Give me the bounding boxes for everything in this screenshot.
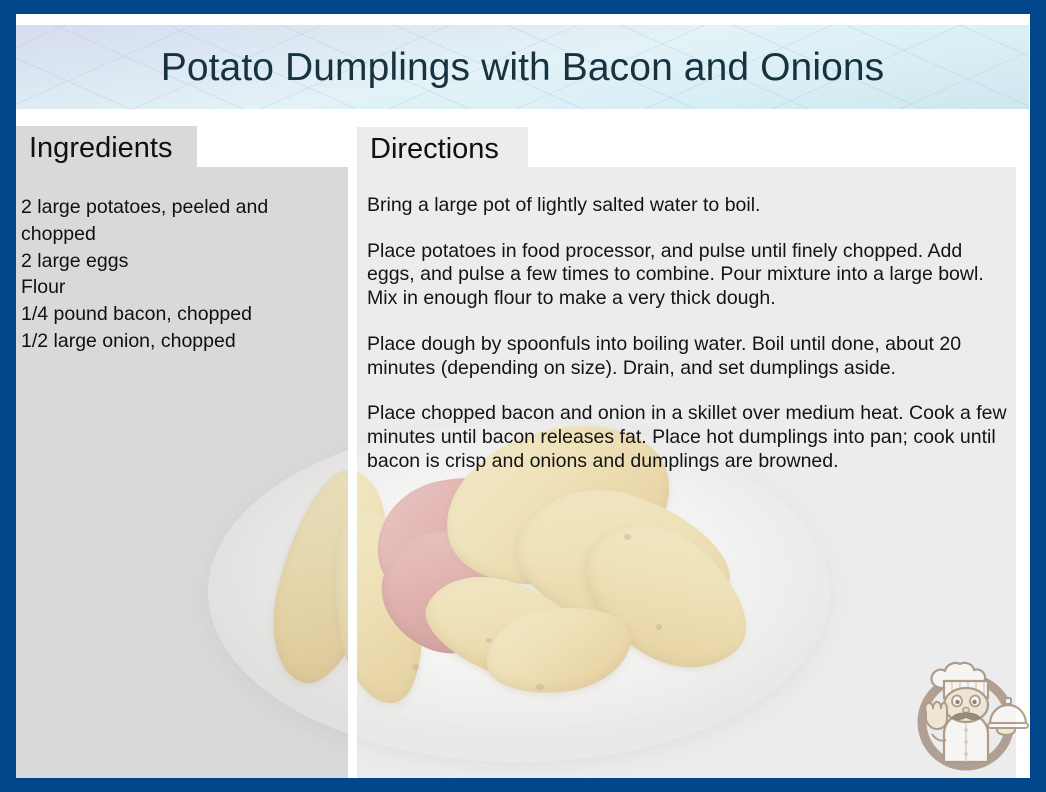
direction-step: Bring a large pot of lightly salted wate… — [367, 194, 1007, 218]
food-speck — [412, 664, 419, 670]
chef-mascot-logo — [902, 652, 1030, 778]
food-speck — [486, 638, 492, 643]
direction-step: Place chopped bacon and onion in a skill… — [367, 402, 1007, 473]
page-title: Potato Dumplings with Bacon and Onions — [161, 48, 885, 87]
ingredients-list: 2 large potatoes, peeled and chopped 2 l… — [21, 194, 331, 355]
food-speck — [536, 684, 544, 690]
column-divider — [348, 167, 357, 778]
recipe-card: Potato Dumplings with Bacon and Onions I… — [0, 0, 1046, 792]
ingredient-item: 1/4 pound bacon, chopped — [21, 301, 331, 328]
direction-step: Place potatoes in food processor, and pu… — [367, 240, 1007, 311]
ingredient-item: 2 large eggs — [21, 248, 331, 275]
directions-heading: Directions — [370, 135, 499, 164]
food-speck — [624, 534, 631, 540]
title-banner: Potato Dumplings with Bacon and Onions — [16, 25, 1029, 109]
section-tab-directions: Directions — [357, 127, 528, 172]
ingredient-item: Flour — [21, 274, 331, 301]
directions-list: Bring a large pot of lightly salted wate… — [367, 194, 1007, 473]
section-tab-ingredients: Ingredients — [16, 126, 197, 171]
ingredient-item: 2 large potatoes, peeled and chopped — [21, 194, 331, 248]
food-speck — [656, 624, 662, 630]
ingredients-heading: Ingredients — [29, 134, 173, 163]
direction-step: Place dough by spoonfuls into boiling wa… — [367, 333, 1007, 380]
ingredient-item: 1/2 large onion, chopped — [21, 328, 331, 355]
